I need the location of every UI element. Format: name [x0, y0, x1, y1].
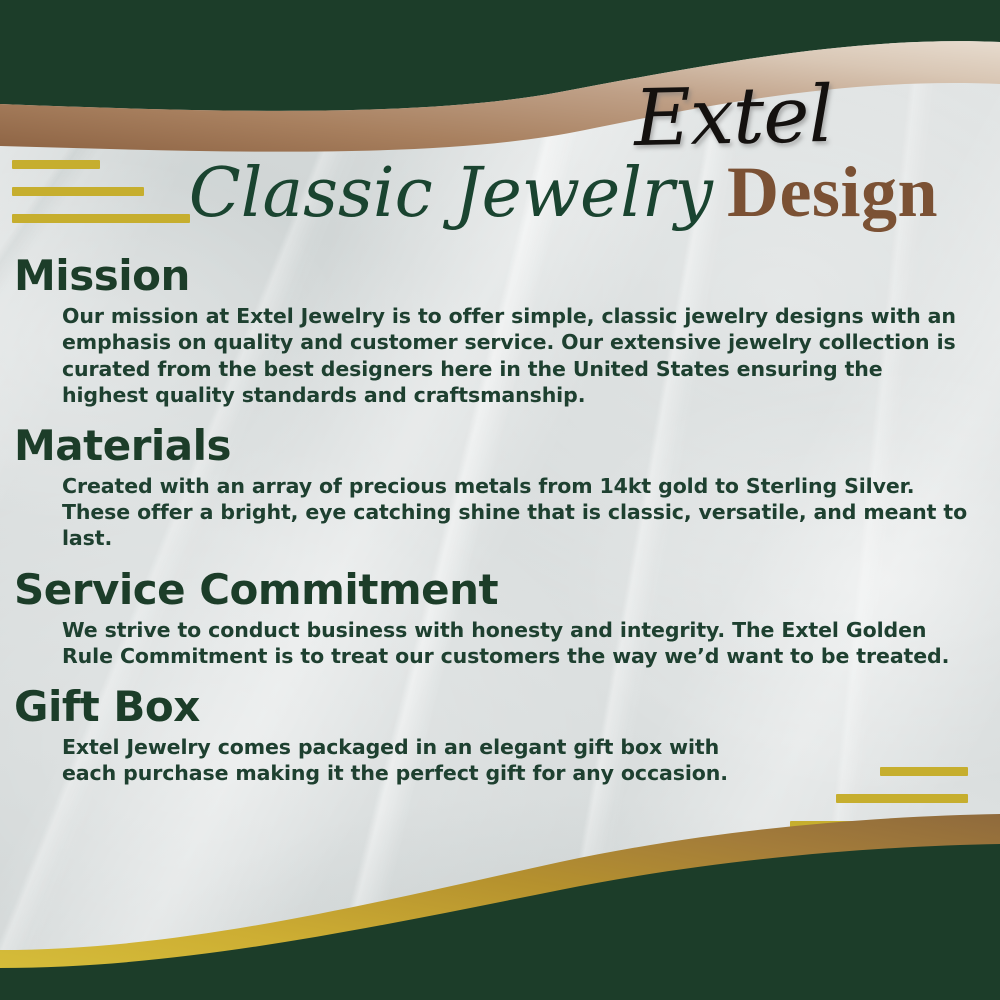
section-body: Created with an array of precious metals… [0, 473, 1000, 552]
headline-accent-part: Design [727, 152, 938, 232]
poster-canvas: Extel Classic JewelryDesign Mission Our … [0, 0, 1000, 1000]
gold-line-4 [880, 767, 968, 776]
section-heading: Mission [0, 252, 1000, 299]
brand-logo-extel: Extel [633, 76, 833, 158]
section-body: Our mission at Extel Jewelry is to offer… [0, 303, 1000, 408]
content-sections: Mission Our mission at Extel Jewelry is … [0, 252, 1000, 801]
section-heading: Service Commitment [0, 566, 1000, 613]
page-title: Classic JewelryDesign [0, 156, 1000, 228]
section-heading: Materials [0, 422, 1000, 469]
section-body: We strive to conduct business with hones… [0, 617, 1000, 669]
section-mission: Mission Our mission at Extel Jewelry is … [0, 252, 1000, 408]
bottom-wave-banner [0, 810, 1000, 1000]
gold-line-5 [836, 794, 968, 803]
section-materials: Materials Created with an array of preci… [0, 422, 1000, 552]
bottom-green-band [0, 844, 1000, 1000]
section-service-commitment: Service Commitment We strive to conduct … [0, 566, 1000, 670]
section-heading: Gift Box [0, 683, 1000, 730]
headline-script-part: Classic Jewelry [189, 154, 713, 233]
